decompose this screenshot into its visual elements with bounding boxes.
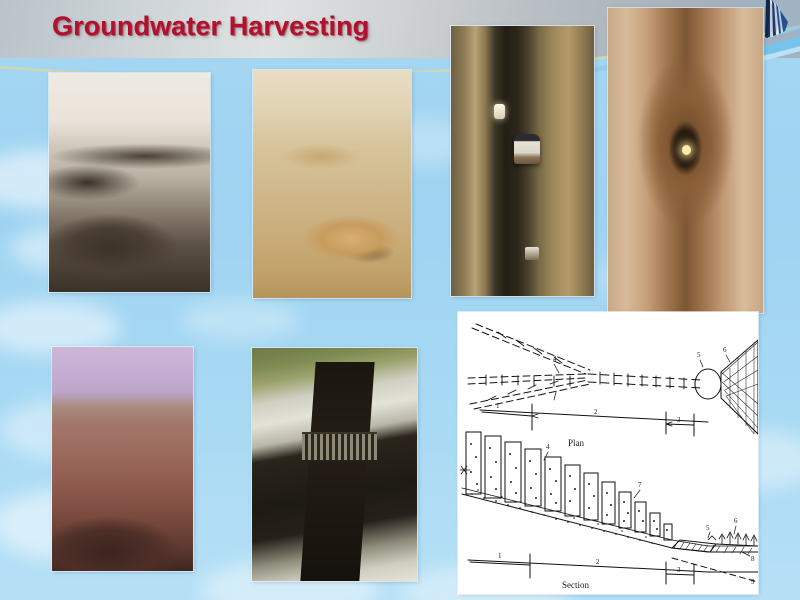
diagram-number: 2 (594, 408, 598, 416)
photo-image (52, 347, 193, 571)
diagram-number: 5 (706, 524, 710, 532)
photo-excavated-channel (252, 348, 417, 581)
diagram-number: 6 (723, 346, 727, 354)
diagram-view-label-section: Section (562, 580, 589, 590)
qanat-plan-and-section-diagram: 1 2 3 4 5 6 Plan 1 2 3 4 5 6 7 8 9 Secti… (458, 312, 758, 594)
diagram-number: 4 (553, 355, 557, 363)
bucket-shape (525, 247, 539, 260)
diagram-number: 5 (697, 351, 701, 359)
cloud-wisp (180, 300, 300, 340)
photo-desert-landscape (52, 347, 193, 571)
grate-structure (302, 432, 378, 462)
photo-image (49, 73, 210, 292)
diagram-number: 7 (638, 481, 642, 489)
diagram-number: 8 (751, 555, 755, 563)
photo-qanat-mounds-bw (49, 73, 210, 292)
page-title: Groundwater Harvesting (52, 11, 369, 42)
photo-image (253, 70, 411, 298)
slide-groundwater-harvesting: Groundwater Harvesting (0, 0, 800, 600)
diagram-number: 3 (677, 416, 681, 424)
photo-qanat-crater-sand (253, 70, 411, 298)
diagram-number: 9 (751, 578, 755, 586)
photo-image (608, 8, 763, 313)
photo-underground-tunnel (608, 8, 763, 313)
diagram-number: 3 (677, 566, 681, 574)
lamp-highlight (494, 104, 505, 119)
photo-worker-in-shaft (451, 26, 594, 296)
diagram-number: 6 (734, 517, 738, 525)
diagram-number: 2 (596, 558, 600, 566)
diagram-number: 1 (496, 402, 500, 410)
diagram-number: 4 (546, 443, 550, 451)
diagram-view-label-plan: Plan (568, 438, 585, 448)
worker-figure (514, 134, 540, 164)
diagram-number: 1 (498, 552, 502, 560)
